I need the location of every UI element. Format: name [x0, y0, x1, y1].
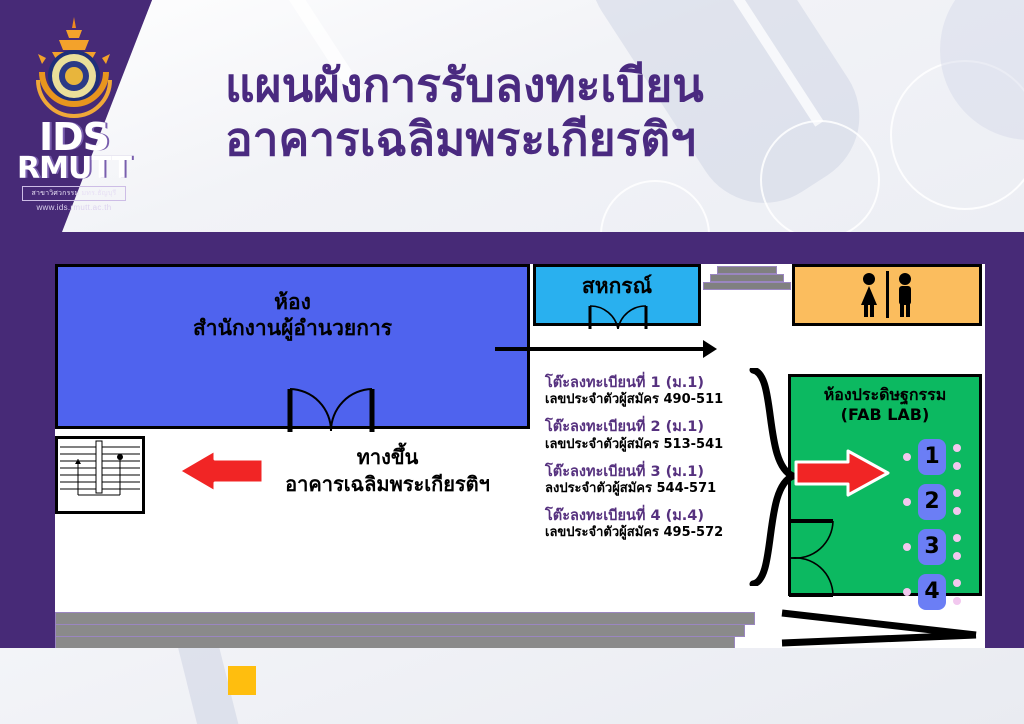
fablab-desk-number: 2 [918, 484, 946, 520]
registration-table-item: โต๊ะลงทะเบียนที่ 1 (ม.1) เลขประจำตัวผู้ส… [545, 374, 760, 408]
room-director-office-label-line2: สำนักงานผู้อำนวยการ [58, 315, 527, 341]
registration-table-title: โต๊ะลงทะเบียนที่ 3 (ม.1) [545, 463, 760, 481]
desk-dot-icon [953, 489, 961, 497]
corridor-direction-arrow [495, 347, 705, 351]
title-line-2: อาคารเฉลิมพระเกียรติฯ [225, 112, 965, 166]
desk-dot-icon [903, 543, 911, 551]
fablab-desk-list: 1 2 3 4 [901, 439, 963, 619]
ramp-wedge [780, 609, 980, 649]
fablab-desk-number: 3 [918, 529, 946, 565]
logo-rmutt-text: RMUTT [14, 155, 134, 184]
desk-dot-icon [953, 597, 961, 605]
desk-dot-icon [953, 507, 961, 515]
registration-table-list: โต๊ะลงทะเบียนที่ 1 (ม.1) เลขประจำตัวผู้ส… [545, 374, 760, 552]
fablab-desk[interactable]: 4 [901, 574, 963, 610]
registration-table-item: โต๊ะลงทะเบียนที่ 2 (ม.1) เลขประจำตัวผู้ส… [545, 418, 760, 452]
stairwell-diagram [55, 436, 145, 514]
restroom-icon [847, 271, 927, 321]
registration-table-title: โต๊ะลงทะเบียนที่ 4 (ม.4) [545, 507, 760, 525]
logo-ids-text: IDS [14, 120, 134, 155]
header-band: IDS RMUTT สาขาวิศวกรรม มทร.ธัญบุรี www.i… [0, 0, 1024, 232]
registration-table-subtitle: ลงประจำตัวผู้สมัคร 544-571 [545, 481, 760, 497]
fablab-desk[interactable]: 1 [901, 439, 963, 475]
floor-plan: ห้อง สำนักงานผู้อำนวยการ สหกรณ์ [55, 264, 985, 649]
title-line-1: แผนผังการรับลงทะเบียน [225, 58, 965, 112]
way-up-label: ทางขึ้น อาคารเฉลิมพระเกียรติฯ [280, 444, 495, 498]
bottom-stairs [55, 612, 773, 649]
room-cooperative[interactable]: สหกรณ์ [533, 264, 701, 326]
desk-dot-icon [903, 498, 911, 506]
room-fablab-label-line2: (FAB LAB) [791, 405, 979, 425]
fablab-desk-number: 4 [918, 574, 946, 610]
right-red-arrow-icon [792, 449, 892, 497]
desk-dot-icon [903, 453, 911, 461]
page-title: แผนผังการรับลงทะเบียน อาคารเฉลิมพระเกียร… [225, 58, 965, 167]
door-double-icon [286, 387, 376, 432]
way-up-label-line1: ทางขึ้น [280, 444, 495, 471]
room-director-office-label: ห้อง สำนักงานผู้อำนวยการ [58, 267, 527, 342]
desk-dot-icon [953, 534, 961, 542]
room-cooperative-label: สหกรณ์ [536, 267, 698, 299]
left-red-arrow-icon [175, 448, 267, 494]
desk-dot-icon [953, 552, 961, 560]
way-up-label-line2: อาคารเฉลิมพระเกียรติฯ [280, 471, 495, 498]
logo-thai-subtitle: สาขาวิศวกรรม มทร.ธัญบุรี [22, 186, 126, 201]
top-stairs [703, 264, 791, 290]
room-director-office-label-line1: ห้อง [58, 289, 527, 315]
registration-table-title: โต๊ะลงทะเบียนที่ 2 (ม.1) [545, 418, 760, 436]
door-double-icon [588, 305, 648, 329]
stairs-icon [58, 439, 142, 511]
decor-circle-3 [600, 180, 710, 232]
desk-dot-icon [903, 588, 911, 596]
registration-table-title: โต๊ะลงทะเบียนที่ 1 (ม.1) [545, 374, 760, 392]
registration-table-subtitle: เลขประจำตัวผู้สมัคร 513-541 [545, 437, 760, 453]
room-fablab-label: ห้องประดิษฐกรรม (FAB LAB) [791, 377, 979, 425]
logo-url: www.ids.rmutt.ac.th [14, 203, 134, 212]
registration-table-subtitle: เลขประจำตัวผู้สมัคร 495-572 [545, 525, 760, 541]
fablab-desk[interactable]: 2 [901, 484, 963, 520]
rmutt-emblem-icon [26, 14, 122, 118]
registration-table-item: โต๊ะลงทะเบียนที่ 3 (ม.1) ลงประจำตัวผู้สม… [545, 463, 760, 497]
registration-table-subtitle: เลขประจำตัวผู้สมัคร 490-511 [545, 392, 760, 408]
room-director-office[interactable]: ห้อง สำนักงานผู้อำนวยการ [55, 264, 530, 429]
footer-band [0, 648, 1024, 724]
room-restroom[interactable] [792, 264, 982, 326]
registration-table-item: โต๊ะลงทะเบียนที่ 4 (ม.4) เลขประจำตัวผู้ส… [545, 507, 760, 541]
desk-dot-icon [953, 462, 961, 470]
desk-dot-icon [953, 444, 961, 452]
poster-root: IDS RMUTT สาขาวิศวกรรม มทร.ธัญบุรี www.i… [0, 0, 1024, 724]
desk-dot-icon [953, 579, 961, 587]
fablab-desk[interactable]: 3 [901, 529, 963, 565]
logo-block: IDS RMUTT สาขาวิศวกรรม มทร.ธัญบุรี www.i… [14, 14, 134, 209]
footer-accent-square [228, 666, 256, 695]
fablab-desk-number: 1 [918, 439, 946, 475]
room-fablab-label-line1: ห้องประดิษฐกรรม [791, 385, 979, 405]
